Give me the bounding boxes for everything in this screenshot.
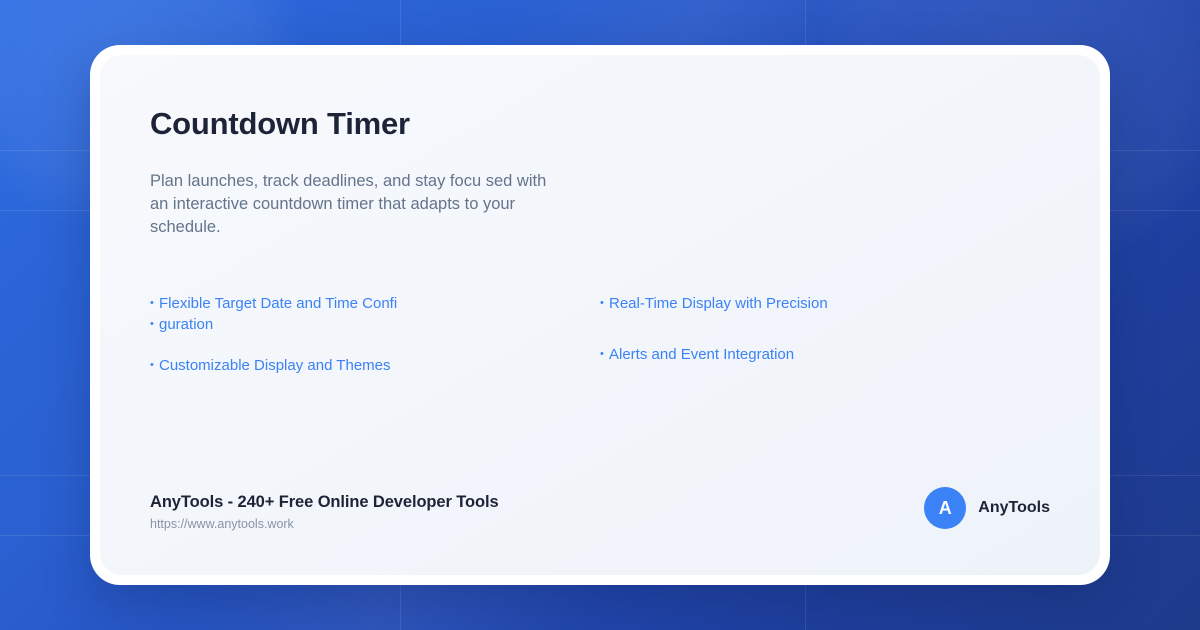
- feature-item: Flexible Target Date and Time Confi gura…: [150, 293, 420, 335]
- feature-line: Flexible Target Date and Time Confi: [150, 293, 420, 314]
- brand-name: AnyTools - 240+ Free Online Developer To…: [150, 493, 499, 512]
- feature-line: Customizable Display and Themes: [150, 355, 420, 376]
- description-line: Plan launches, track deadlines, and stay…: [150, 172, 481, 190]
- logo-avatar-icon: A: [924, 487, 966, 529]
- feature-item: Alerts and Event Integration: [600, 344, 920, 365]
- feature-item: Real-Time Display with Precision: [600, 293, 920, 314]
- logo-label: AnyTools: [978, 499, 1050, 517]
- feature-spacer: [150, 345, 600, 355]
- brand-block: AnyTools - 240+ Free Online Developer To…: [150, 493, 499, 531]
- page-title: Countdown Timer: [150, 107, 1050, 141]
- brand-logo: A AnyTools: [924, 487, 1050, 531]
- feature-line: Real-Time Display with Precision: [600, 293, 920, 314]
- feature-list: Flexible Target Date and Time Confi gura…: [150, 293, 1050, 386]
- feature-spacer: [600, 334, 1050, 344]
- brand-url[interactable]: https://www.anytools.work: [150, 517, 499, 531]
- promo-banner: Countdown Timer Plan launches, track dea…: [0, 0, 1200, 630]
- feature-column-left: Flexible Target Date and Time Confi gura…: [150, 293, 600, 386]
- feature-column-right: Real-Time Display with Precision Alerts …: [600, 293, 1050, 386]
- feature-line: guration: [150, 314, 420, 335]
- feature-line: Alerts and Event Integration: [600, 344, 920, 365]
- card-inner: Countdown Timer Plan launches, track dea…: [100, 55, 1100, 575]
- content-card: Countdown Timer Plan launches, track dea…: [90, 45, 1110, 585]
- feature-item: Customizable Display and Themes: [150, 355, 420, 376]
- feature-spacer: [600, 324, 1050, 334]
- card-footer: AnyTools - 240+ Free Online Developer To…: [150, 487, 1050, 531]
- page-description: Plan launches, track deadlines, and stay…: [150, 170, 550, 239]
